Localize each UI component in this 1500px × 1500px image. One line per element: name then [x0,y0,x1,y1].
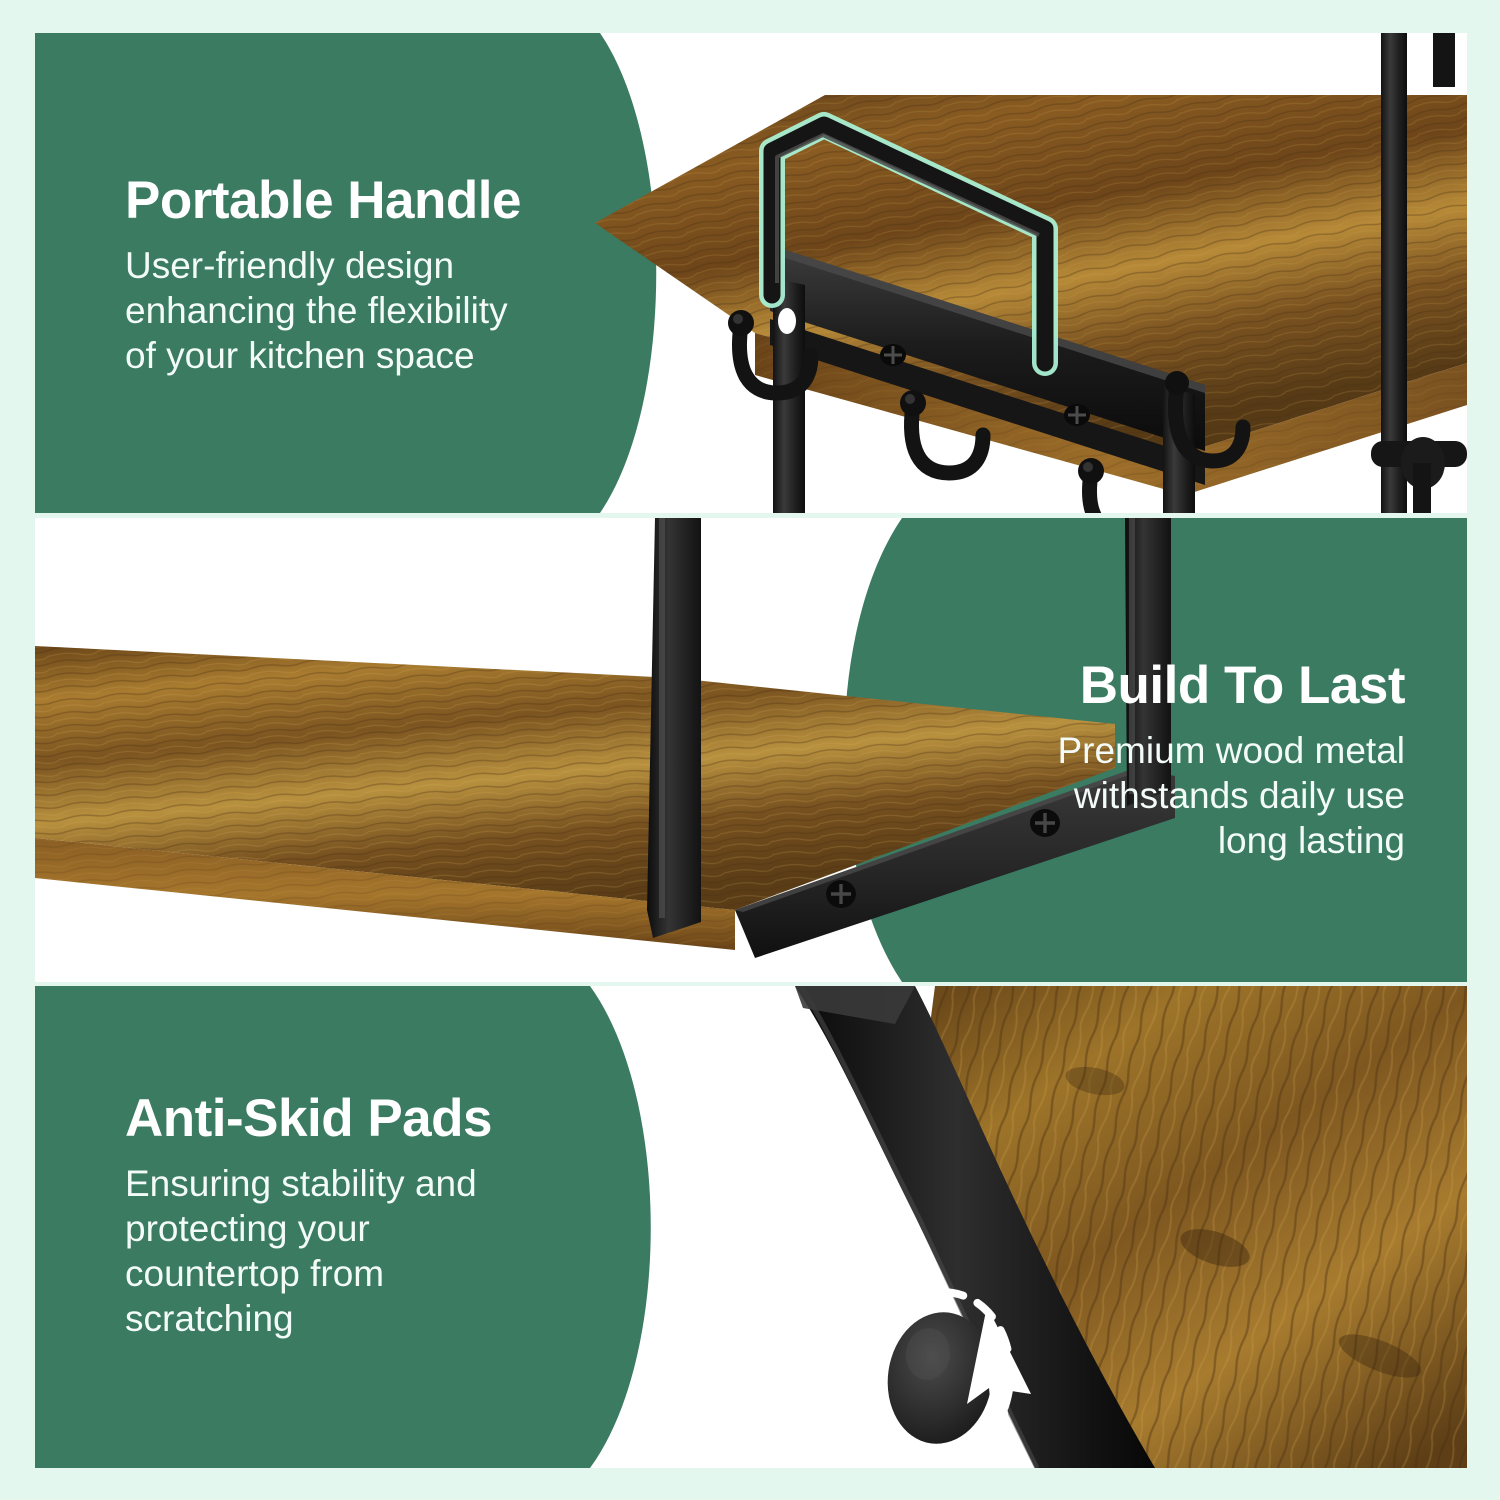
description-line: countertop from [125,1251,625,1296]
description-line: enhancing the flexibility [125,288,645,333]
screw-icon [826,880,856,908]
feature-panel-build-to-last: Build To Last Premium wood metal withsta… [35,518,1467,982]
screw-icon [880,344,906,366]
description-line: User-friendly design [125,243,645,288]
panel-text-build-to-last: Build To Last Premium wood metal withsta… [885,658,1405,863]
description-line: withstands daily use [885,773,1405,818]
description-line: of your kitchen space [125,333,645,378]
panel-description: Ensuring stability and protecting your c… [125,1161,625,1342]
page-title: Portable Handle [125,173,645,229]
description-line: Premium wood metal [885,728,1405,773]
panel-description: Premium wood metal withstands daily use … [885,728,1405,863]
description-line: long lasting [885,818,1405,863]
description-line: Ensuring stability and [125,1161,625,1206]
panel-text-portable-handle: Portable Handle User-friendly design enh… [125,173,645,378]
page-title: Anti-Skid Pads [125,1091,625,1147]
feature-panel-anti-skid-pads: Anti-Skid Pads Ensuring stability and pr… [35,986,1467,1468]
feature-panel-portable-handle: Portable Handle User-friendly design enh… [35,33,1467,513]
frame-post [647,518,701,938]
page-title: Build To Last [885,658,1405,714]
description-line: scratching [125,1296,625,1341]
panel-description: User-friendly design enhancing the flexi… [125,243,645,378]
description-line: protecting your [125,1206,625,1251]
screw-icon [1064,404,1090,426]
infographic-board: Portable Handle User-friendly design enh… [0,0,1500,1500]
panel-text-anti-skid-pads: Anti-Skid Pads Ensuring stability and pr… [125,1091,625,1341]
